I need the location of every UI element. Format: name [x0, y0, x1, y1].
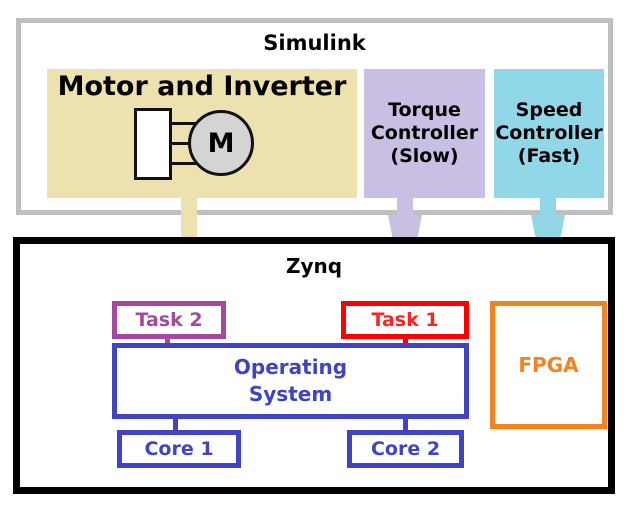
- motor-letter-label: M: [208, 130, 235, 157]
- torque-controller-block[interactable]: Torque Controller (Slow): [364, 69, 485, 198]
- inverter-rect-icon: [134, 108, 172, 180]
- speed-controller-label: Speed Controller (Fast): [495, 99, 602, 169]
- core1-block[interactable]: Core 1: [117, 430, 241, 468]
- operating-system-block[interactable]: Operating System: [112, 343, 469, 419]
- torque-controller-label: Torque Controller (Slow): [371, 99, 478, 169]
- zynq-panel-title: Zynq: [20, 254, 608, 278]
- motor-circle-icon: M: [188, 110, 254, 176]
- simulink-panel: Simulink Motor and Inverter M Torque Con…: [16, 18, 613, 215]
- motor-inverter-graphic: M: [122, 104, 282, 180]
- arrow-shaft: [397, 175, 413, 215]
- task2-block[interactable]: Task 2: [112, 301, 226, 339]
- core2-block[interactable]: Core 2: [347, 430, 464, 468]
- diagram-canvas: Simulink Motor and Inverter M Torque Con…: [0, 0, 627, 506]
- fpga-block[interactable]: FPGA: [490, 301, 607, 429]
- task1-block[interactable]: Task 1: [341, 301, 469, 339]
- simulink-panel-title: Simulink: [21, 31, 608, 55]
- arrow-shaft: [540, 175, 556, 215]
- arrow-shaft: [181, 175, 197, 239]
- motor-and-inverter-label: Motor and Inverter: [58, 73, 347, 100]
